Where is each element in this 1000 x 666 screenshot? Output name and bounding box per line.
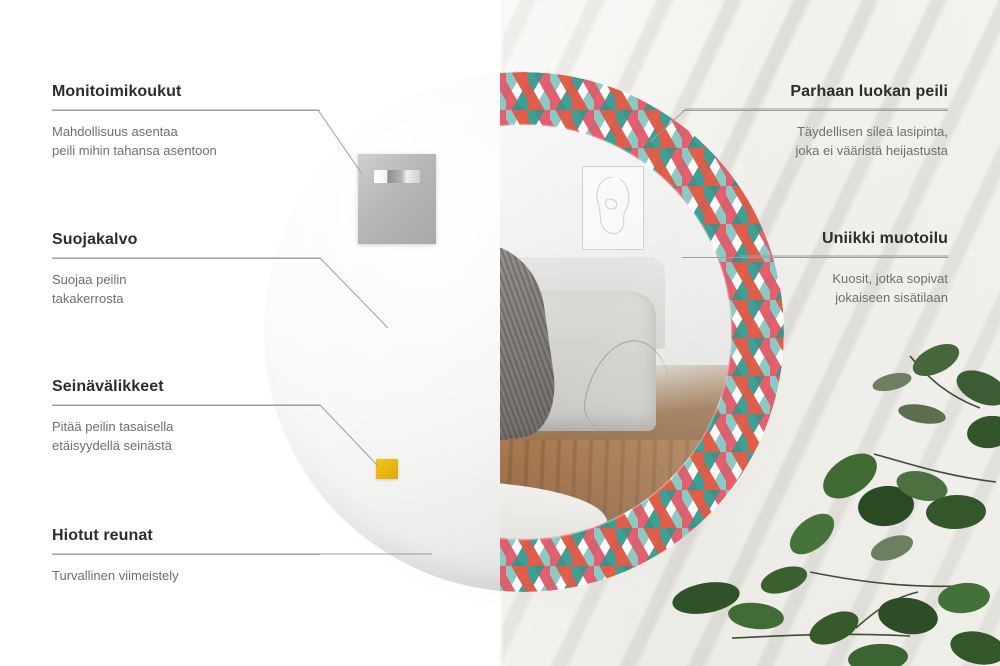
callout-protective-film: Suojakalvo Suojaa peilin takakerrosta bbox=[52, 231, 320, 308]
wall-spacer bbox=[376, 459, 398, 479]
callout-title: Monitoimikoukut bbox=[52, 83, 320, 101]
callout-description: Täydellisen sileä lasipinta, joka ei vää… bbox=[682, 122, 948, 160]
line-art-face-icon bbox=[583, 167, 643, 249]
callout-description: Turvallinen viimeistely bbox=[52, 566, 320, 585]
callout-wall-spacers: Seinävälikkeet Pitää peilin tasaisella e… bbox=[52, 378, 320, 455]
mounting-bracket bbox=[358, 154, 436, 244]
callout-rule bbox=[52, 258, 320, 259]
callout-title: Hiotut reunat bbox=[52, 527, 320, 545]
callout-title: Suojakalvo bbox=[52, 231, 320, 249]
callout-rule bbox=[52, 554, 320, 555]
callout-mounting-hooks: Monitoimikoukut Mahdollisuus asentaa pei… bbox=[52, 83, 320, 160]
callout-title: Seinävälikkeet bbox=[52, 378, 320, 396]
callout-description: Pitää peilin tasaisella etäisyydellä sei… bbox=[52, 417, 320, 455]
callout-title: Uniikki muotoilu bbox=[682, 230, 948, 248]
callout-description: Mahdollisuus asentaa peili mihin tahansa… bbox=[52, 122, 320, 160]
callout-rule bbox=[682, 257, 948, 258]
bracket-clip-detail bbox=[374, 170, 420, 183]
product-feature-diagram: Monitoimikoukut Mahdollisuus asentaa pei… bbox=[0, 0, 1000, 666]
wall-art-frame bbox=[582, 166, 644, 250]
callout-rule bbox=[682, 110, 948, 111]
callout-rule bbox=[52, 110, 320, 111]
callout-description: Kuosit, jotka sopivat jokaiseen sisätila… bbox=[682, 269, 948, 307]
callout-unique-design: Uniikki muotoilu Kuosit, jotka sopivat j… bbox=[682, 230, 948, 307]
callout-description: Suojaa peilin takakerrosta bbox=[52, 270, 320, 308]
callout-title: Parhaan luokan peili bbox=[682, 83, 948, 101]
callout-premium-mirror: Parhaan luokan peili Täydellisen sileä l… bbox=[682, 83, 948, 160]
callout-polished-edges: Hiotut reunat Turvallinen viimeistely bbox=[52, 527, 320, 585]
callout-rule bbox=[52, 405, 320, 406]
